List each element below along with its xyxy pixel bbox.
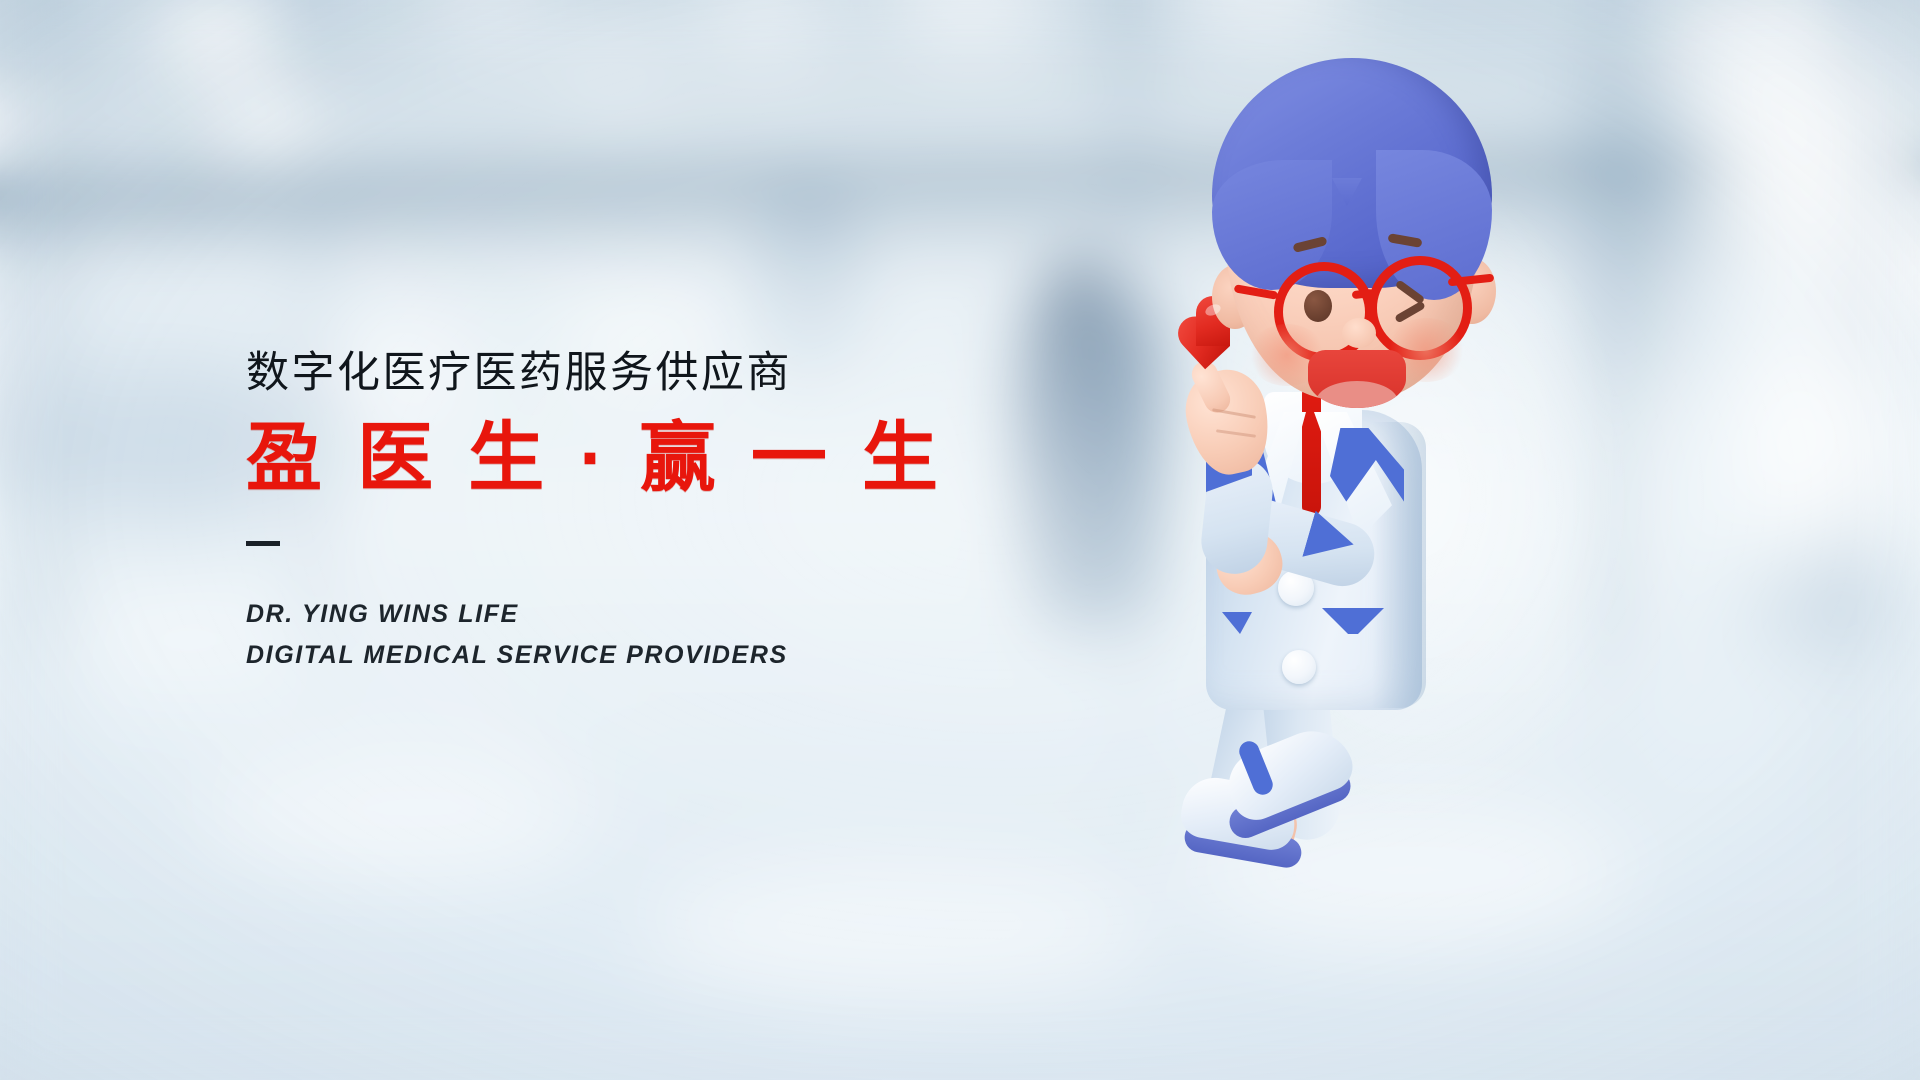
nose [1342, 318, 1376, 348]
mouth-open-smile [1308, 350, 1406, 408]
divider-rule [246, 541, 280, 546]
banner-headline: 盈 医 生 · 赢 一 生 [246, 421, 1066, 497]
banner-english-block: DR. YING WINS LIFE DIGITAL MEDICAL SERVI… [246, 594, 1066, 675]
hero-banner: 数字化医疗医药服务供应商 盈 医 生 · 赢 一 生 DR. YING WINS… [0, 0, 1920, 1080]
banner-kicker: 数字化医疗医药服务供应商 [246, 352, 1066, 395]
doctor-mascot [1190, 40, 1610, 1040]
banner-english-line-1: DR. YING WINS LIFE [246, 594, 1066, 635]
coat-button-bottom [1282, 650, 1316, 684]
tongue [1316, 381, 1398, 408]
hero-copy: 数字化医疗医药服务供应商 盈 医 生 · 赢 一 生 DR. YING WINS… [246, 352, 1066, 675]
banner-english-line-2: DIGITAL MEDICAL SERVICE PROVIDERS [246, 635, 1066, 676]
